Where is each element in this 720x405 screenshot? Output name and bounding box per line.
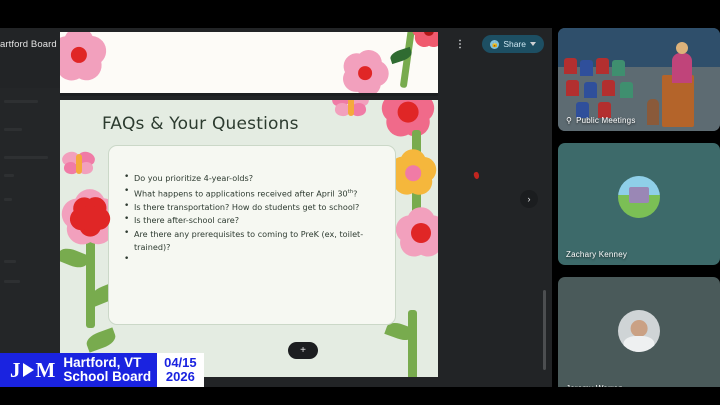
banner-main: J M Hartford, VT School Board: [0, 353, 157, 387]
flower-decoration: [342, 50, 388, 96]
next-page-button[interactable]: ›: [520, 190, 538, 208]
play-triangle-icon: [23, 363, 34, 377]
bullet-text: What happens to applications received af…: [134, 188, 348, 198]
share-chevron-down-icon: [530, 42, 536, 46]
leaf-decoration: [84, 327, 118, 352]
meeting-screen-share: artford Board Presentation Re PreK .pdf …: [0, 0, 720, 405]
list-item: What happens to applications received af…: [123, 186, 395, 200]
banner-title: Hartford, VT School Board: [63, 356, 151, 384]
participant-name-row: Zachary Kenney: [566, 250, 627, 259]
banner-date-line-1: 04/15: [164, 356, 197, 370]
bullet-line-2: trained)?: [134, 242, 170, 252]
scrollbar[interactable]: [543, 290, 546, 370]
flower-decoration: [390, 150, 436, 196]
faq-list: Do you prioritize 4-year-olds? What happ…: [123, 172, 395, 266]
avatar: [618, 310, 660, 352]
banner-date: 04/15 2026: [157, 353, 204, 387]
participant-name: Public Meetings: [576, 116, 635, 125]
chevron-right-icon: ›: [528, 194, 531, 204]
list-item: Is there after-school care?: [123, 214, 395, 227]
banner-line-2: School Board: [63, 370, 151, 384]
butterfly-decoration: [62, 152, 96, 176]
broadcast-banner: J M Hartford, VT School Board 04/15 2026: [0, 353, 204, 387]
previous-slide-sliver: [60, 32, 438, 96]
logo-letter-m: M: [36, 358, 56, 383]
share-label: Share: [503, 39, 526, 49]
pdf-pages[interactable]: FAQs & Your Questions Do you prioritize …: [60, 32, 438, 377]
lock-icon: 🔒: [490, 40, 499, 49]
bottom-letterbox: [0, 387, 720, 405]
flower-decoration: [412, 32, 438, 48]
top-letterbox: [0, 0, 552, 28]
stem-decoration: [408, 310, 417, 377]
flower-decoration: [60, 32, 106, 82]
pin-icon: ⚲: [566, 116, 572, 125]
participant-name: Zachary Kenney: [566, 250, 627, 259]
slide-title: FAQs & Your Questions: [102, 114, 299, 134]
butterfly-decoration: [332, 100, 370, 118]
participant-name-row: ⚲ Public Meetings: [566, 116, 636, 125]
banner-date-line-2: 2026: [166, 370, 195, 384]
current-slide: FAQs & Your Questions Do you prioritize …: [60, 100, 438, 377]
participant-tile-zachary-kenney[interactable]: Zachary Kenney: [558, 143, 720, 265]
zoom-in-button[interactable]: +: [288, 342, 318, 359]
more-options-icon[interactable]: [450, 34, 470, 54]
questions-box: Do you prioritize 4-year-olds? What happ…: [108, 145, 396, 325]
share-button[interactable]: 🔒 Share: [482, 35, 544, 53]
participant-tile-jeremy-warren[interactable]: Jeremy Warren: [558, 277, 720, 399]
list-item: Are there any prerequisites to coming to…: [123, 228, 395, 253]
jmtv-logo: J M: [10, 358, 55, 383]
participant-tile-public-meetings[interactable]: ⚲ Public Meetings: [558, 28, 720, 131]
plus-icon: +: [300, 345, 306, 356]
bullet-line-1: Are there any prerequisites to coming to…: [134, 229, 363, 239]
list-item: Is there transportation? How do students…: [123, 201, 395, 214]
bullet-suffix: ?: [353, 188, 357, 198]
list-item-empty: [123, 254, 395, 266]
participant-rail: ⚲ Public Meetings Zachary Kenney Jeremy …: [552, 0, 720, 405]
flower-decoration: [382, 100, 434, 138]
viewer-side-panel: [0, 88, 60, 368]
logo-letter-j: J: [10, 358, 21, 383]
avatar: [618, 176, 660, 218]
list-item: Do you prioritize 4-year-olds?: [123, 172, 395, 185]
flower-decoration: [396, 208, 438, 258]
banner-line-1: Hartford, VT: [63, 356, 151, 370]
